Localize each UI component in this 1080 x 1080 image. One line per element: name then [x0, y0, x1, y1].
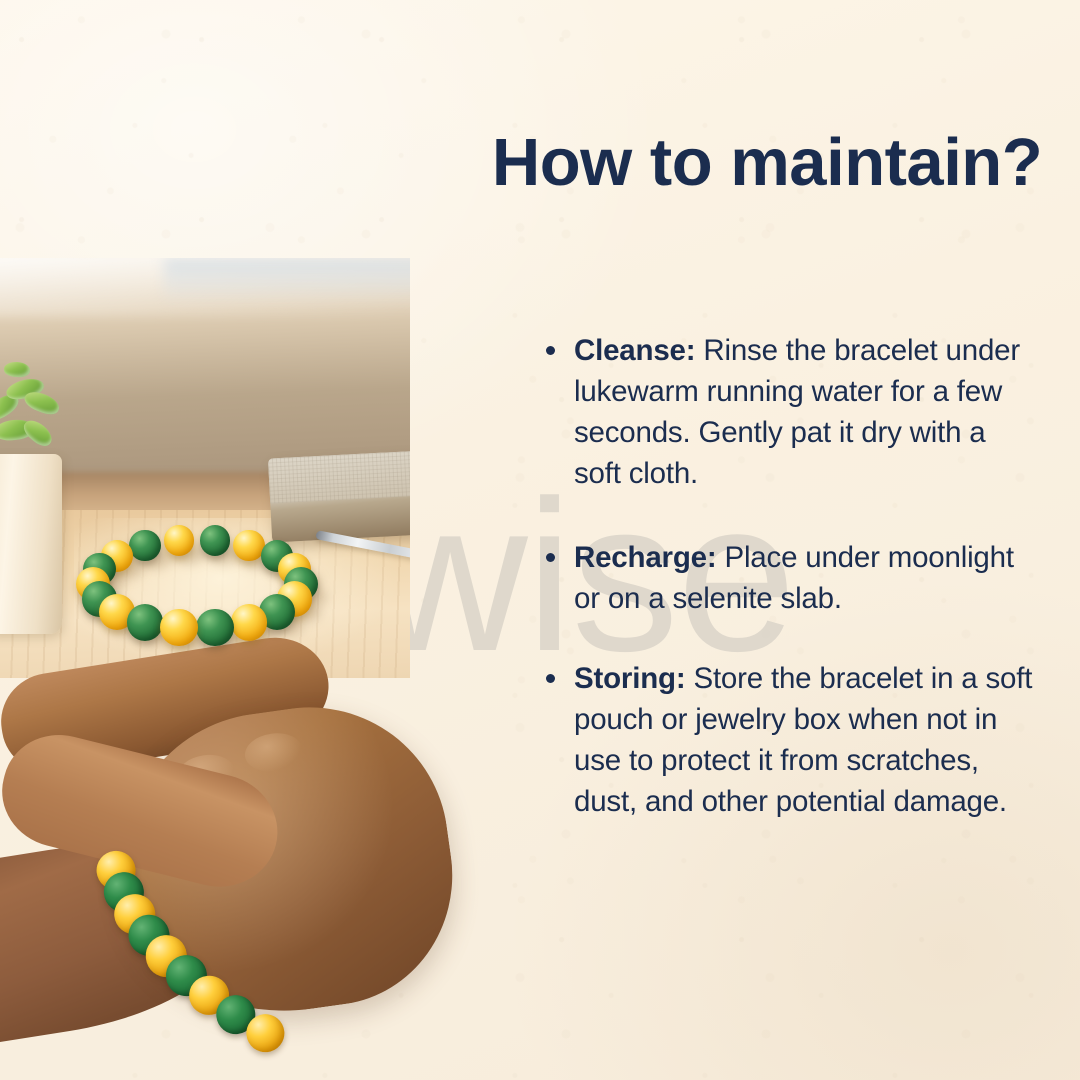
- bracelet-bead: [160, 609, 197, 646]
- bracelet-bead: [143, 933, 189, 979]
- page-title: How to maintain?: [482, 128, 1052, 198]
- bullet-dot-icon: [546, 674, 555, 683]
- thumb: [0, 723, 289, 899]
- bracelet-bead: [187, 973, 231, 1017]
- bracelet-bead: [129, 530, 160, 561]
- hand-wearing-bracelet-photo: [0, 655, 620, 1080]
- bracelet-bead: [164, 953, 209, 998]
- bracelet-bead: [126, 913, 172, 959]
- list-item: Recharge: Place under moonlight or on a …: [536, 537, 1036, 619]
- photo-window-blind: [164, 258, 410, 304]
- bracelet-bead: [214, 993, 257, 1036]
- bracelet-desk-photo: [0, 258, 410, 678]
- list-item-lead: Storing:: [574, 662, 685, 695]
- palm: [101, 689, 470, 1032]
- poster-canvas: soulwise How to maintain? Cleanse: Rinse…: [0, 0, 1080, 1080]
- bullet-dot-icon: [546, 346, 555, 355]
- bracelet-bead: [164, 525, 195, 556]
- forearm: [0, 822, 252, 1053]
- wrist-bracelet: [86, 833, 266, 1044]
- list-item: Cleanse: Rinse the bracelet under lukewa…: [536, 330, 1036, 494]
- bracelet-bead: [127, 604, 164, 641]
- bracelet-beads-group: [78, 528, 316, 640]
- bracelet-bead: [231, 604, 268, 641]
- bracelet-bead: [196, 609, 233, 646]
- knuckle: [175, 751, 238, 797]
- bracelet-bead: [112, 892, 157, 937]
- maintenance-list: Cleanse: Rinse the bracelet under lukewa…: [536, 330, 1036, 822]
- bracelet-bead: [245, 1012, 287, 1054]
- bracelet-bead: [95, 849, 138, 892]
- bullet-dot-icon: [546, 553, 555, 562]
- bracelet-bead: [233, 530, 264, 561]
- knuckle: [242, 730, 305, 776]
- notebook-cover: [268, 449, 410, 503]
- list-item-lead: Recharge:: [574, 541, 716, 574]
- succulent-pot: [0, 454, 62, 634]
- bracelet-bead: [102, 870, 146, 914]
- bracelet-bead: [200, 525, 231, 556]
- list-item-lead: Cleanse:: [574, 334, 695, 367]
- list-item: Storing: Store the bracelet in a soft po…: [536, 658, 1036, 822]
